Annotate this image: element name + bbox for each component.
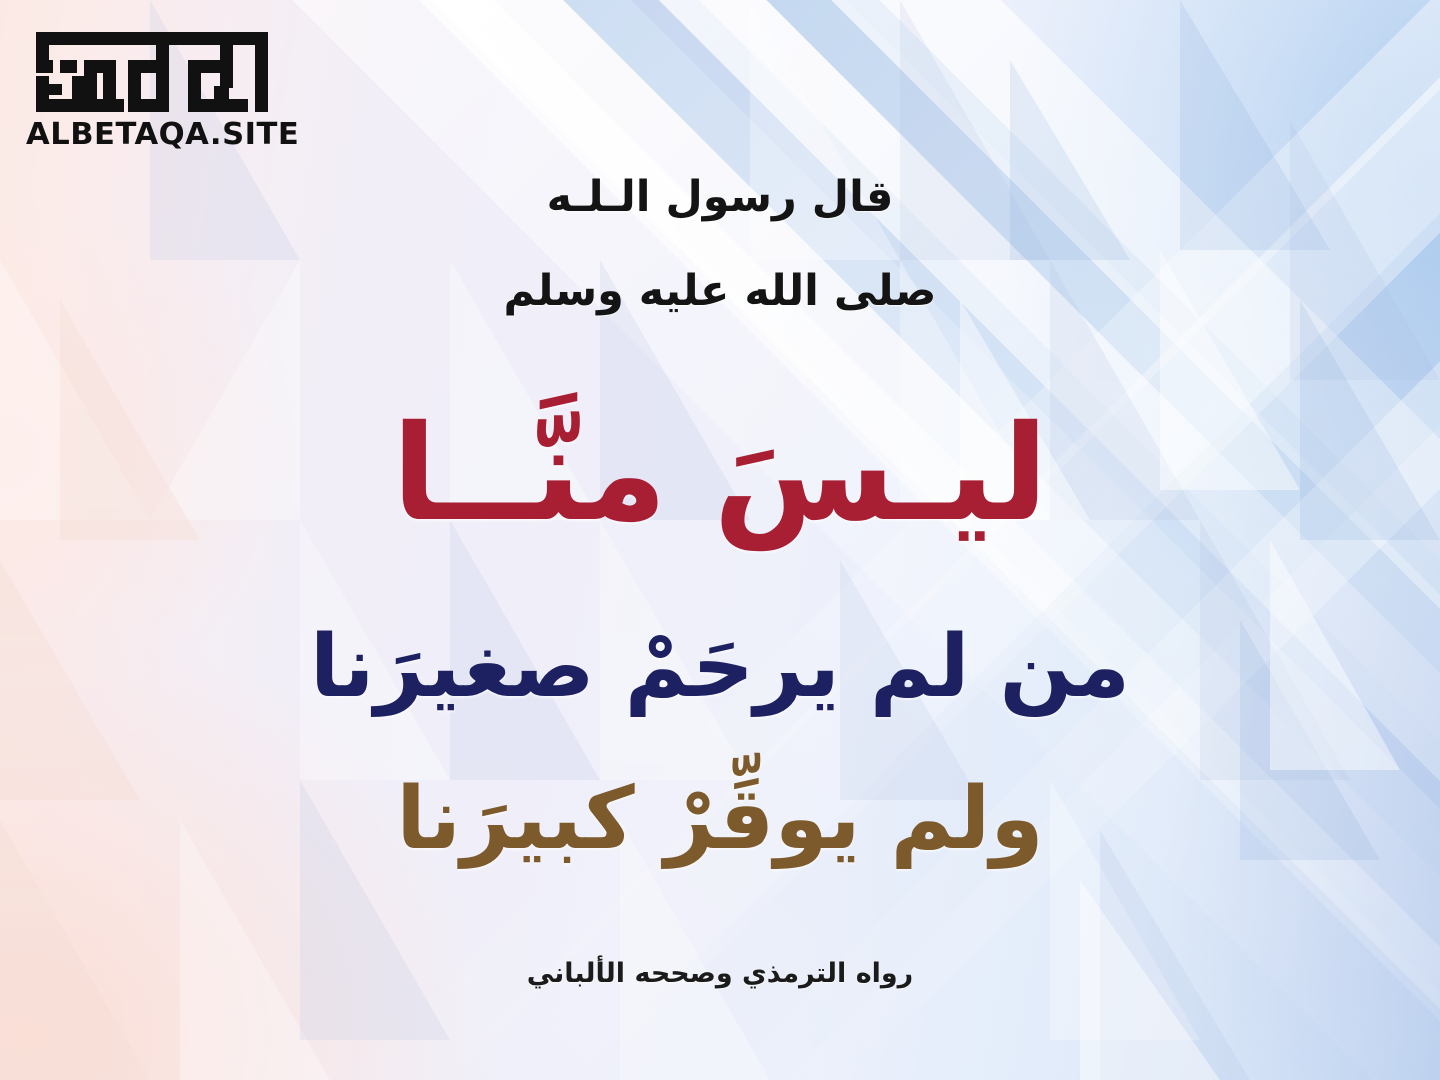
brand-logo[interactable]: ALBETAQA.SITE xyxy=(26,24,276,150)
hadith-line-1: ليـسَ منَّــا xyxy=(0,392,1440,557)
hadith-card: ALBETAQA.SITE قال رسول الـلـه صلى الله ع… xyxy=(0,0,1440,1080)
brand-wordmark: ALBETAQA.SITE xyxy=(26,120,281,150)
hadith-source-attribution: رواه الترمذي وصححه الألباني xyxy=(0,958,1440,989)
hadith-line-2: من لم يرحَمْ صغيرَنا xyxy=(0,612,1440,724)
card-content: ALBETAQA.SITE قال رسول الـلـه صلى الله ع… xyxy=(0,0,1440,1080)
albetaqa-kufic-logo-icon xyxy=(28,24,276,116)
intro-line-2: صلى الله عليه وسلم xyxy=(0,262,1440,320)
intro-line-1: قال رسول الـلـه xyxy=(0,168,1440,226)
hadith-line-3: ولم يوقِّرْ كبيرَنا xyxy=(0,764,1440,876)
